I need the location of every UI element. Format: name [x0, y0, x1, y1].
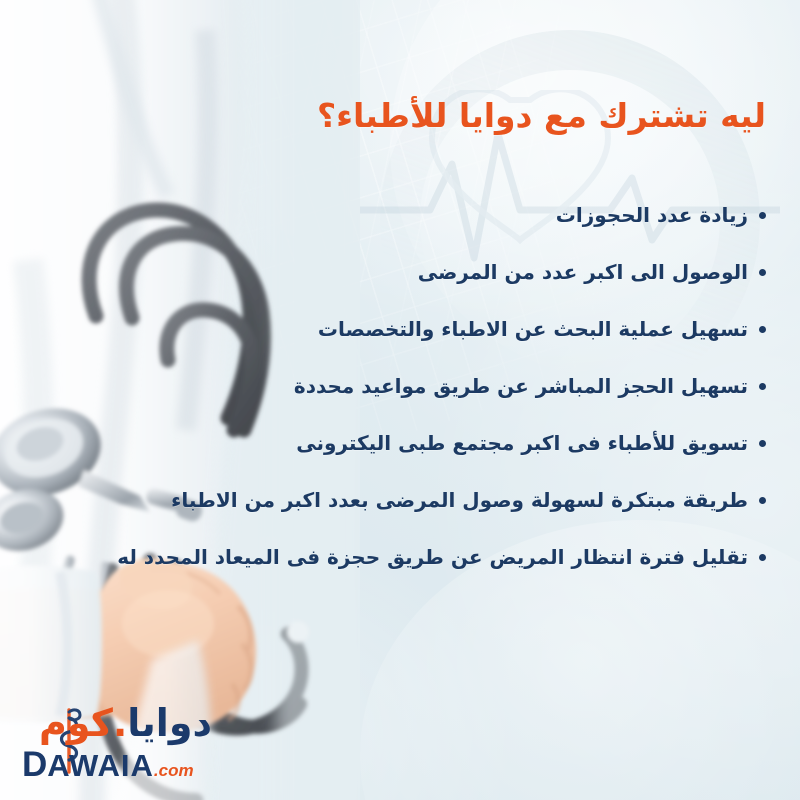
list-item: طريقة مبتكرة لسهولة وصول المرضى بعدد اكب… — [60, 471, 766, 528]
dawaia-logo[interactable]: دوايا.كوم DAWAIA.com — [18, 704, 233, 788]
logo-arabic-tld: .كوم — [39, 701, 127, 745]
list-item: الوصول الى اكبر عدد من المرضى — [60, 243, 766, 300]
bullet-dot-icon — [759, 440, 766, 447]
list-item-label: تسويق للأطباء فى اكبر مجتمع طبى اليكترون… — [296, 430, 748, 456]
list-item-label: تقليل فترة انتظار المريض عن طريق حجزة فى… — [117, 544, 748, 570]
logo-latin-initial: D — [22, 745, 47, 784]
list-item: تسويق للأطباء فى اكبر مجتمع طبى اليكترون… — [60, 414, 766, 471]
poster-content: ليه تشترك مع دوايا للأطباء؟ زيادة عدد ال… — [0, 0, 800, 800]
bullet-dot-icon — [759, 554, 766, 561]
list-item: زيادة عدد الحجوزات — [60, 186, 766, 243]
bullet-dot-icon — [759, 383, 766, 390]
list-item-label: طريقة مبتكرة لسهولة وصول المرضى بعدد اكب… — [171, 487, 748, 513]
bullet-dot-icon — [759, 326, 766, 333]
list-item: تقليل فترة انتظار المريض عن طريق حجزة فى… — [60, 528, 766, 585]
bullet-dot-icon — [759, 497, 766, 504]
list-item: تسهيل الحجز المباشر عن طريق مواعيد محددة — [60, 357, 766, 414]
page-title: ليه تشترك مع دوايا للأطباء؟ — [120, 96, 766, 136]
promo-poster: ليه تشترك مع دوايا للأطباء؟ زيادة عدد ال… — [0, 0, 800, 800]
bullet-dot-icon — [759, 212, 766, 219]
list-item-label: تسهيل الحجز المباشر عن طريق مواعيد محددة — [294, 373, 748, 399]
list-item: تسهيل عملية البحث عن الاطباء والتخصصات — [60, 300, 766, 357]
benefits-list: زيادة عدد الحجوزات الوصول الى اكبر عدد م… — [60, 186, 766, 585]
logo-arabic-wordmark: دوايا.كوم — [18, 704, 233, 742]
logo-latin-tld: .com — [154, 761, 194, 780]
list-item-label: الوصول الى اكبر عدد من المرضى — [418, 259, 748, 285]
list-item-label: زيادة عدد الحجوزات — [556, 202, 748, 228]
logo-arabic-name: دوايا — [127, 701, 212, 745]
bullet-dot-icon — [759, 269, 766, 276]
logo-latin-name: AWAIA — [47, 748, 154, 783]
list-item-label: تسهيل عملية البحث عن الاطباء والتخصصات — [318, 316, 748, 342]
logo-latin-wordmark: DAWAIA.com — [22, 745, 237, 785]
